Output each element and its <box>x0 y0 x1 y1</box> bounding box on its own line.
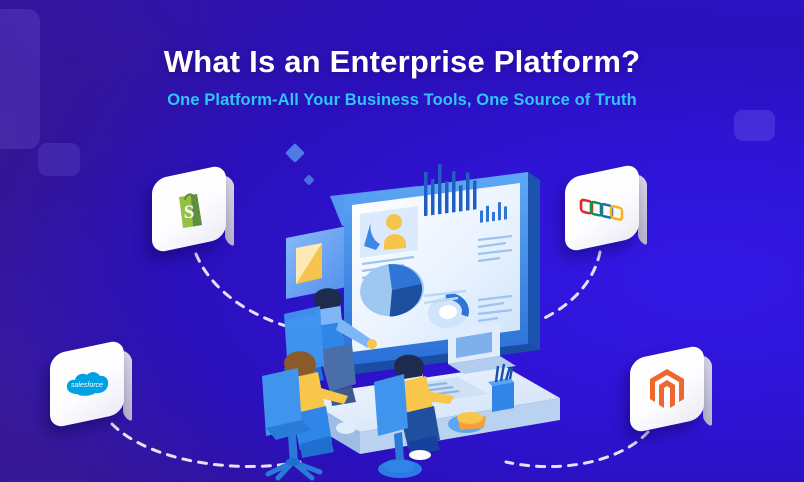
dashboard-avatar-tile <box>360 206 418 258</box>
card-side-zoho <box>638 173 647 247</box>
app-card-shopify[interactable]: S <box>152 172 226 246</box>
app-card-magento[interactable] <box>630 352 704 426</box>
app-card-zoho[interactable] <box>565 171 639 245</box>
magento-m-icon <box>649 368 685 410</box>
card-face-shopify: S <box>152 164 226 254</box>
mouse <box>336 422 356 434</box>
floating-card-folder-left <box>286 225 352 299</box>
shopify-bag-icon: S <box>171 189 207 229</box>
hero-banner: What Is an Enterprise Platform? One Plat… <box>0 0 804 482</box>
svg-text:salesforce: salesforce <box>71 382 103 389</box>
stool-base <box>378 460 422 478</box>
zoho-squares-icon <box>579 195 625 221</box>
card-side-magento <box>703 354 712 428</box>
card-side-salesforce <box>123 349 132 423</box>
salesforce-cloud-icon: salesforce <box>63 368 111 400</box>
app-card-salesforce[interactable]: salesforce <box>50 347 124 421</box>
card-side-shopify <box>225 174 234 248</box>
card-face-salesforce: salesforce <box>50 339 124 429</box>
svg-text:S: S <box>184 202 195 223</box>
card-face-magento <box>630 344 704 434</box>
card-face-zoho <box>565 163 639 253</box>
